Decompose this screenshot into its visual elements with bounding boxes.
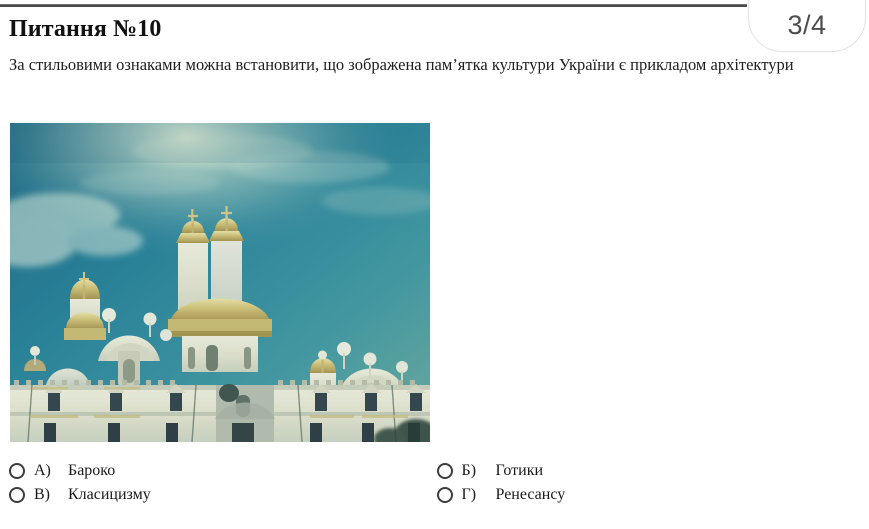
question-counter-badge: 3/4	[748, 0, 866, 52]
option-b[interactable]: Б) Готики	[437, 462, 865, 480]
cathedral-photo	[10, 123, 430, 442]
quiz-question-page: 3/4 Питання №10 За стильовими ознаками м…	[0, 0, 869, 529]
answer-options: А) Бароко Б) Готики В) Класицизму Г) Рен…	[9, 462, 864, 510]
page-title: Питання №10	[9, 16, 161, 43]
option-letter-g: Г)	[462, 486, 496, 504]
option-g[interactable]: Г) Ренесансу	[437, 486, 865, 504]
radio-icon-v[interactable]	[9, 487, 25, 503]
option-label-v: Класицизму	[68, 486, 151, 504]
question-counter-text: 3/4	[787, 12, 826, 39]
option-label-b: Готики	[496, 462, 544, 480]
option-a[interactable]: А) Бароко	[9, 462, 437, 480]
radio-icon-b[interactable]	[437, 463, 453, 479]
option-row-1: А) Бароко Б) Готики	[9, 462, 864, 480]
option-letter-a: А)	[34, 462, 68, 480]
option-label-a: Бароко	[68, 462, 115, 480]
question-prompt: За стильовими ознаками можна встановити,…	[9, 53, 809, 77]
cathedral-illustration	[10, 123, 430, 442]
radio-icon-a[interactable]	[9, 463, 25, 479]
option-letter-b: Б)	[462, 462, 496, 480]
option-letter-v: В)	[34, 486, 68, 504]
radio-icon-g[interactable]	[437, 487, 453, 503]
option-row-2: В) Класицизму Г) Ренесансу	[9, 486, 864, 504]
header-divider	[0, 4, 747, 7]
option-v[interactable]: В) Класицизму	[9, 486, 437, 504]
option-label-g: Ренесансу	[496, 486, 566, 504]
